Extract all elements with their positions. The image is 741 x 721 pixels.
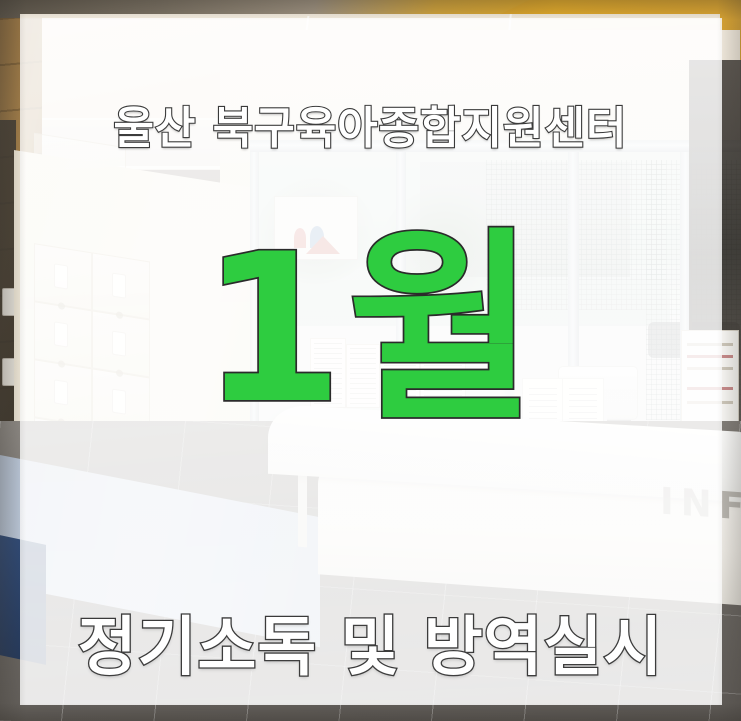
- month-headline: 1월: [0, 228, 741, 433]
- announcement-text: 정기소독 및 방역실시: [0, 596, 741, 688]
- organization-title: 울산 북구육아종합지원센터: [0, 92, 741, 156]
- text-overlay: 울산 북구육아종합지원센터 1월 정기소독 및 방역실시: [0, 0, 741, 721]
- poster-root: INFO 울산 북구육아종합지원센터 1월 정기소독 및 방역실시: [0, 0, 741, 721]
